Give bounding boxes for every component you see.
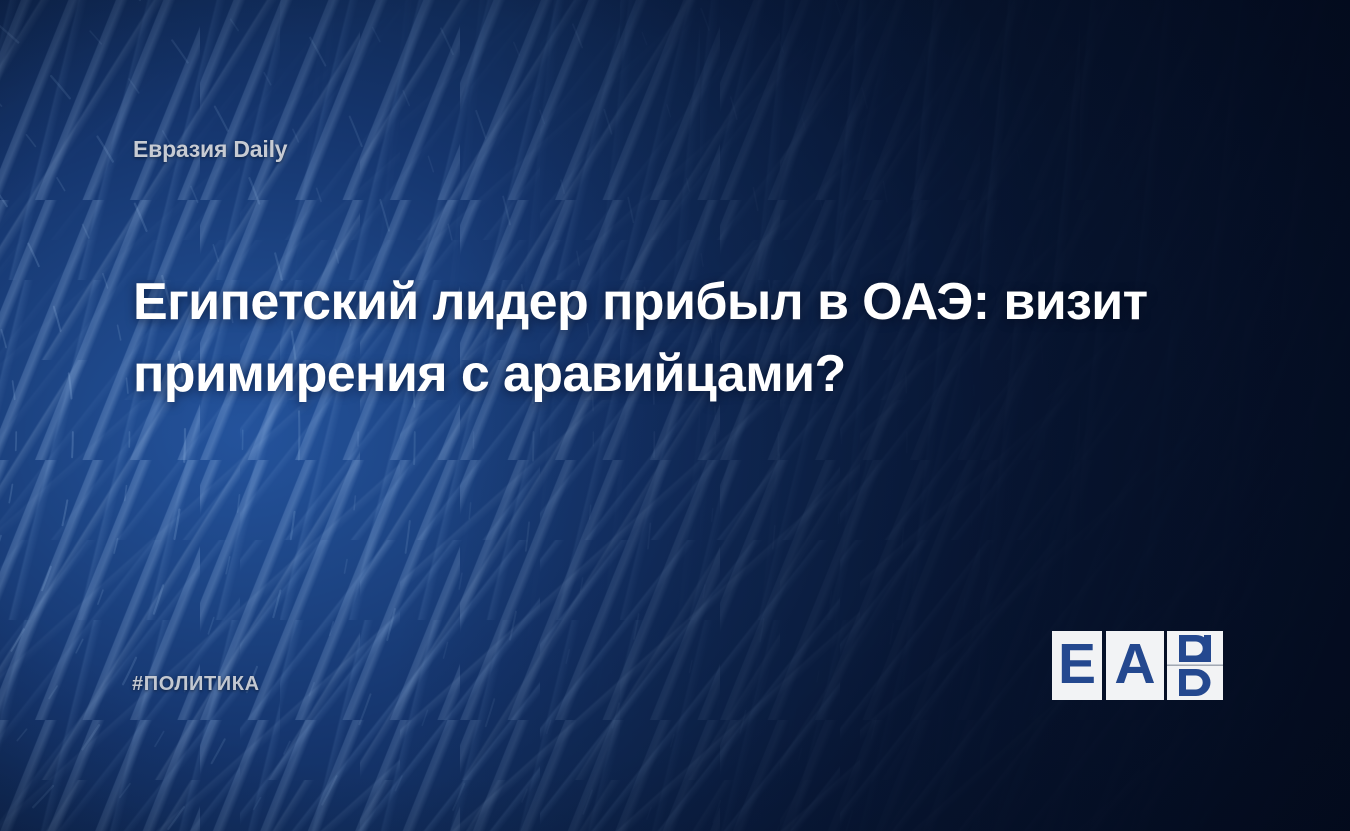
brand-name: Евразия Daily	[133, 136, 287, 163]
headline-line-1: Египетский лидер прибыл в ОАЭ: визит	[133, 266, 1223, 338]
headline-line-2: примирения с аравийцами?	[133, 338, 1223, 410]
logo-letter-a: A	[1106, 631, 1164, 700]
social-share-card: Евразия Daily Египетский лидер прибыл в …	[0, 0, 1350, 831]
card-content: Евразия Daily Египетский лидер прибыл в …	[0, 0, 1350, 831]
page-title: Египетский лидер прибыл в ОАЭ: визит при…	[133, 266, 1223, 410]
logo-letter-e: E	[1052, 631, 1102, 700]
ead-logo[interactable]: E A	[1052, 630, 1224, 701]
category-hashtag[interactable]: #ПОЛИТИКА	[132, 673, 260, 696]
logo-letter-d	[1167, 631, 1223, 700]
